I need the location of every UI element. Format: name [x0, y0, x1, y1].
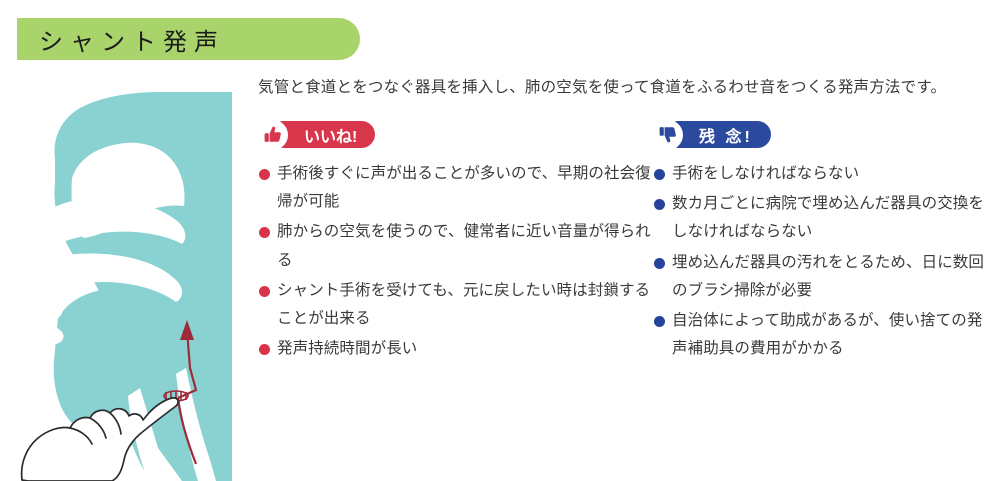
pros-list: 手術後すぐに声が出ることが多いので、早期の社会復帰が可能 肺からの空気を使うので…: [258, 160, 653, 363]
list-item: 自治体によって助成があるが、使い捨ての発声補助具の費用がかかる: [653, 307, 998, 363]
anatomy-illustration: [0, 68, 232, 481]
list-item: シャント手術を受けても、元に戻したい時は封鎖することが出来る: [258, 277, 653, 333]
content-area: 気管と食道とをつなぐ器具を挿入し、肺の空気を使って食道をふるわせ音をつくる発声方…: [258, 72, 1000, 365]
list-item: 手術後すぐに声が出ることが多いので、早期の社会復帰が可能: [258, 160, 653, 216]
list-item: 発声持続時間が長い: [258, 335, 653, 363]
list-item: 数カ月ごとに病院で埋め込んだ器具の交換をしなければならない: [653, 190, 998, 246]
thumbs-down-icon: [653, 120, 683, 150]
description-text: 気管と食道とをつなぐ器具を挿入し、肺の空気を使って食道をふるわせ音をつくる発声方…: [258, 72, 1000, 103]
thumbs-up-icon: [258, 120, 288, 150]
cons-list: 手術をしなければならない 数カ月ごとに病院で埋め込んだ器具の交換をしなければなら…: [653, 160, 998, 363]
list-item: 肺からの空気を使うので、健常者に近い音量が得られる: [258, 218, 653, 274]
pros-badge-label: いいね!: [304, 123, 357, 147]
list-item: 埋め込んだ器具の汚れをとるため、日に数回のブラシ掃除が必要: [653, 249, 998, 305]
pros-badge: いいね!: [270, 121, 375, 148]
cons-badge-label: 残 念!: [699, 123, 753, 147]
page-title-banner: シャント発声: [17, 18, 360, 60]
cons-badge: 残 念!: [665, 121, 771, 148]
pros-cons-columns: いいね! 手術後すぐに声が出ることが多いので、早期の社会復帰が可能 肺からの空気…: [258, 121, 1000, 365]
list-item: 手術をしなければならない: [653, 160, 998, 188]
cons-column: 残 念! 手術をしなければならない 数カ月ごとに病院で埋め込んだ器具の交換をしな…: [653, 121, 998, 365]
page-title: シャント発声: [17, 22, 225, 57]
pros-column: いいね! 手術後すぐに声が出ることが多いので、早期の社会復帰が可能 肺からの空気…: [258, 121, 653, 365]
